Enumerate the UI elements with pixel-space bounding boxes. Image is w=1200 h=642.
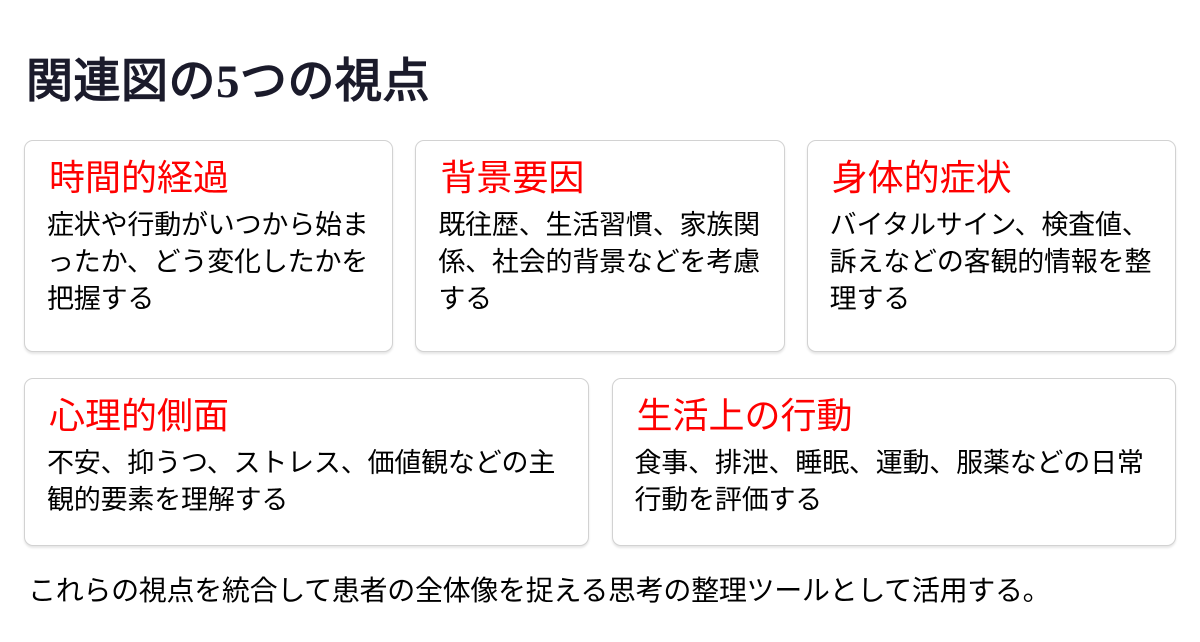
card-body: 既往歴、生活習慣、家族関係、社会的背景などを考慮する: [438, 207, 763, 318]
card-heading: 背景要因: [440, 155, 763, 201]
card-body: 食事、排泄、睡眠、運動、服薬などの日常行動を評価する: [635, 445, 1156, 519]
card-heading: 身体的症状: [832, 155, 1155, 201]
card-time-course[interactable]: 時間的経過 症状や行動がいつから始まったか、どう変化したかを把握する: [24, 140, 393, 352]
card-psychological-aspects[interactable]: 心理的側面 不安、抑うつ、ストレス、価値観などの主観的要素を理解する: [24, 378, 589, 546]
slide-canvas: 関連図の5つの視点 時間的経過 症状や行動がいつから始まったか、どう変化したかを…: [0, 0, 1200, 642]
card-row-top: 時間的経過 症状や行動がいつから始まったか、どう変化したかを把握する 背景要因 …: [24, 140, 1176, 352]
card-heading: 時間的経過: [49, 155, 372, 201]
card-body: 症状や行動がいつから始まったか、どう変化したかを把握する: [47, 207, 372, 318]
card-background-factors[interactable]: 背景要因 既往歴、生活習慣、家族関係、社会的背景などを考慮する: [415, 140, 784, 352]
card-heading: 心理的側面: [49, 393, 568, 439]
card-body: 不安、抑うつ、ストレス、価値観などの主観的要素を理解する: [47, 445, 568, 519]
card-physical-symptoms[interactable]: 身体的症状 バイタルサイン、検査値、訴えなどの客観的情報を整理する: [807, 140, 1176, 352]
summary-note: これらの視点を統合して患者の全体像を捉える思考の整理ツールとして活用する。: [28, 572, 1050, 610]
card-heading: 生活上の行動: [637, 393, 1156, 439]
card-daily-life-behavior[interactable]: 生活上の行動 食事、排泄、睡眠、運動、服薬などの日常行動を評価する: [612, 378, 1177, 546]
page-title: 関連図の5つの視点: [26, 53, 430, 111]
card-row-bottom: 心理的側面 不安、抑うつ、ストレス、価値観などの主観的要素を理解する 生活上の行…: [24, 378, 1176, 546]
card-body: バイタルサイン、検査値、訴えなどの客観的情報を整理する: [830, 207, 1155, 318]
perspective-card-grid: 時間的経過 症状や行動がいつから始まったか、どう変化したかを把握する 背景要因 …: [24, 140, 1176, 546]
